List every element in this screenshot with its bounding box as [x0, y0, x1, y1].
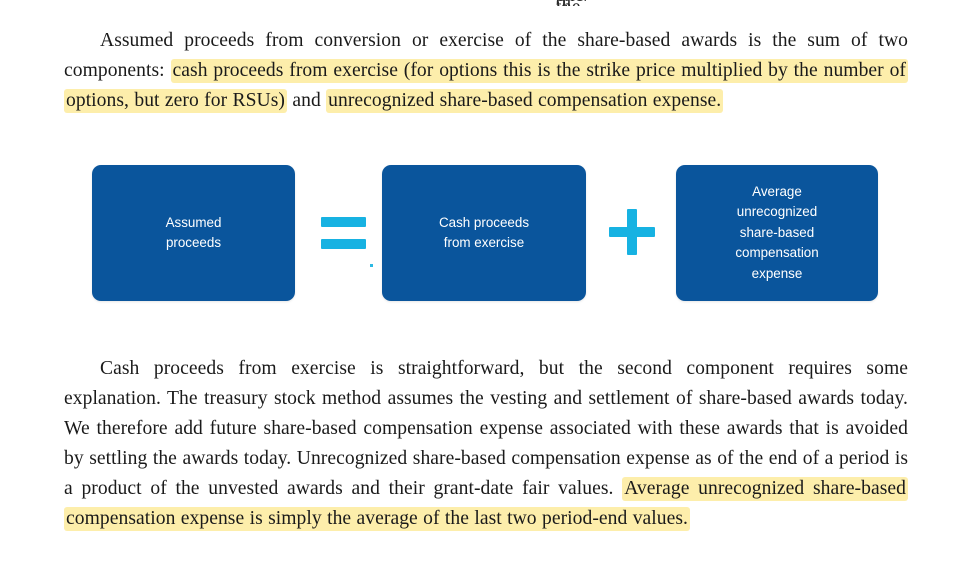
- diagram-box-cash-proceeds-from-exercise: Cash proceeds from exercise: [382, 165, 586, 301]
- paragraph-assumed-proceeds: Assumed proceeds from conversion or exer…: [64, 26, 908, 116]
- equals-sign-icon: [321, 217, 366, 249]
- paragraph-1-text-conjunction: and: [287, 90, 326, 111]
- assumed-proceeds-equation-diagram: Assumed proceeds Cash proceeds from exer…: [0, 160, 965, 310]
- cut-off-line-fragment: r exercise of the sha: [556, 0, 586, 6]
- paragraph-cash-proceeds-explanation: Cash proceeds from exercise is straightf…: [64, 354, 908, 534]
- plus-sign-icon: [609, 209, 655, 255]
- diagram-box-label: Average unrecognized share-based compens…: [727, 182, 826, 285]
- stray-cyan-dot-artifact: [370, 264, 373, 267]
- diagram-box-label: Cash proceeds from exercise: [431, 213, 537, 254]
- highlight-unrecognized-expense: unrecognized share-based compensation ex…: [326, 89, 723, 113]
- diagram-box-average-unrecognized-expense: Average unrecognized share-based compens…: [676, 165, 878, 301]
- diagram-box-label: Assumed proceeds: [158, 213, 230, 254]
- diagram-box-assumed-proceeds: Assumed proceeds: [92, 165, 295, 301]
